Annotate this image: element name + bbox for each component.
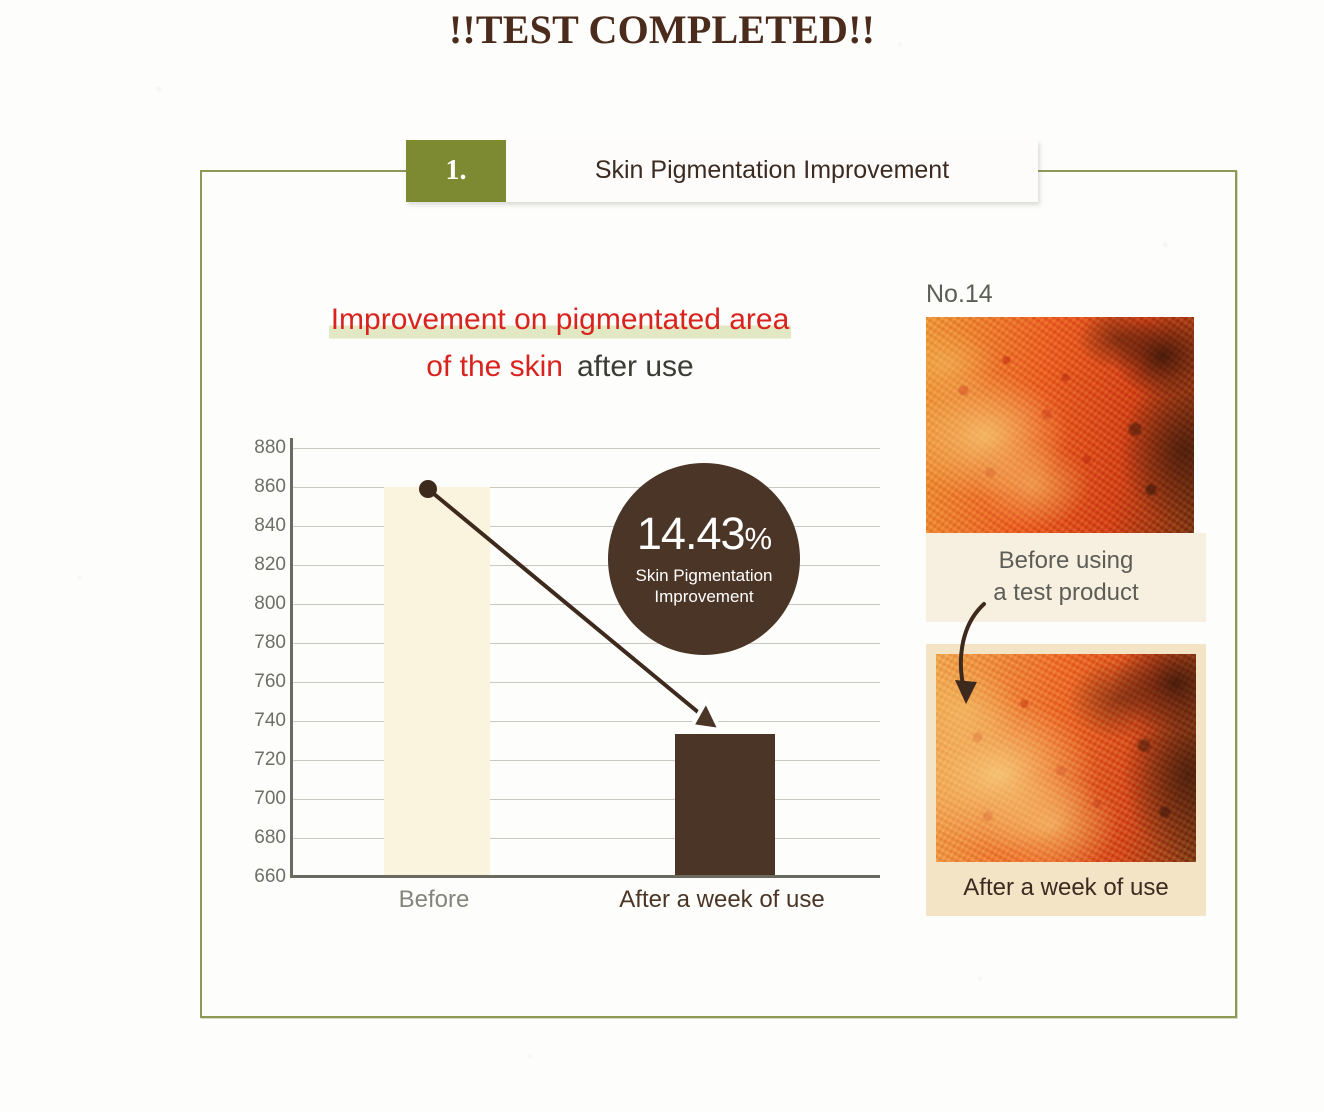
badge-value: 14.43 [637,508,745,559]
badge-subtitle-line1: Skin Pigmentation [635,565,772,586]
section-number-badge: 1. [406,140,506,202]
photo-card-before: Before using a test product [926,317,1206,622]
badge-percent-symbol: % [745,521,772,556]
chart-heading-line2-plain: after use [577,350,694,383]
improvement-badge: 14.43% Skin Pigmentation Improvement [608,463,800,655]
photo-panel: No.14 Before using a test product After … [926,280,1206,916]
chart-heading-line2: of the skinafter use [250,347,870,386]
badge-subtitle: Skin Pigmentation Improvement [635,565,772,608]
photo-after-caption: After a week of use [936,862,1196,916]
section-header: 1. Skin Pigmentation Improvement [406,140,1038,202]
badge-percent-value: 14.43% [637,511,771,556]
curved-down-arrow-icon [944,600,1014,720]
chart-heading-line1-wrap: Improvement on pigmentated area [250,300,870,341]
chart-heading-line2-highlight: of the skin [426,350,563,383]
chart-block: Improvement on pigmentated area of the s… [240,300,900,940]
photo-before-caption-line1: Before using [926,545,1206,577]
improvement-arrow [240,438,900,938]
section-title: Skin Pigmentation Improvement [506,140,1038,202]
skin-texture-icon [926,317,1194,533]
chart-plot: 880 860 840 820 800 780 760 740 720 700 … [240,438,900,938]
photo-before-image [926,317,1194,533]
chart-heading: Improvement on pigmentated area of the s… [250,300,870,386]
chart-heading-line1: Improvement on pigmentated area [329,300,792,341]
photo-number-label: No.14 [926,280,1206,309]
badge-subtitle-line2: Improvement [635,586,772,607]
photo-after-caption-line1: After a week of use [936,872,1196,904]
page-title: !!TEST COMPLETED!! [0,6,1324,53]
